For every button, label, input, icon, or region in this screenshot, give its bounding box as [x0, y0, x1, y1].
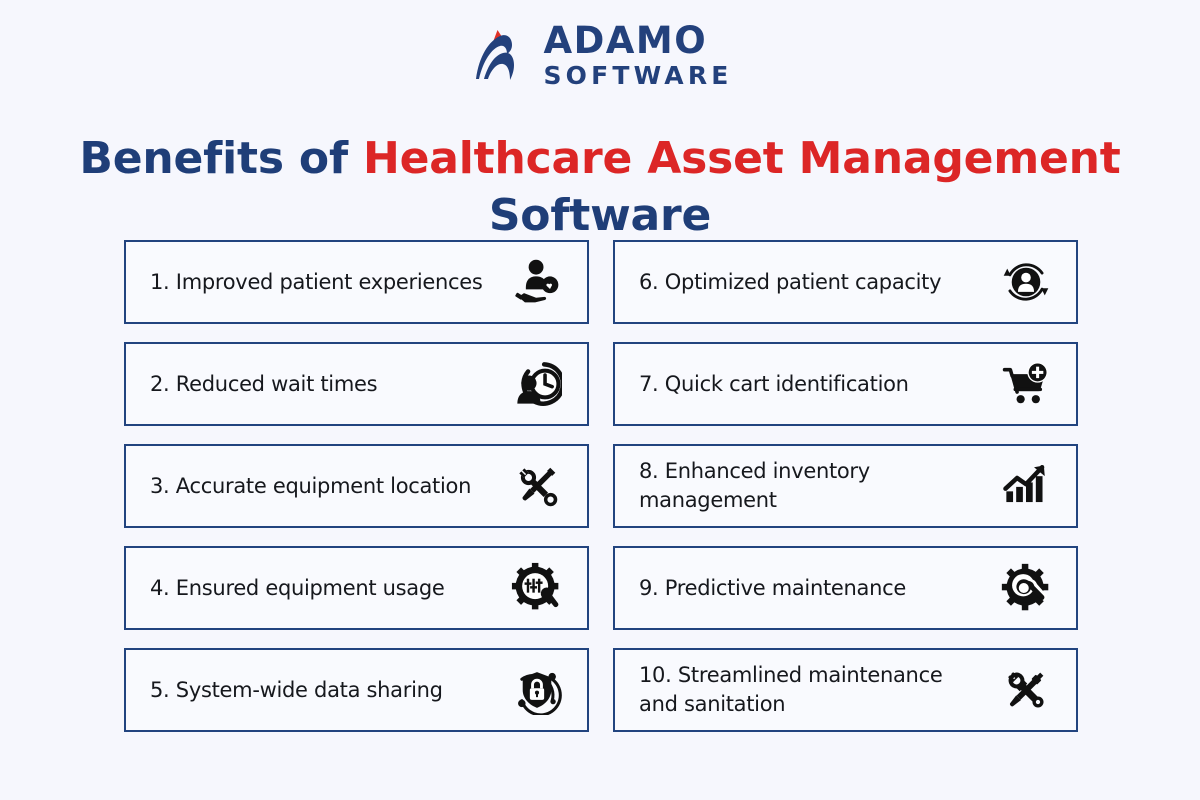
benefit-card-6[interactable]: 6. Optimized patient capacity [613, 240, 1078, 324]
brand-logo: ADAMO SOFTWARE [0, 22, 1200, 88]
growth-chart-arrow-icon [998, 458, 1054, 514]
benefit-card-5-label: 5. System-wide data sharing [150, 676, 509, 705]
wrench-screwdriver-tools-icon [998, 662, 1054, 718]
adamo-swoosh-logo-icon [467, 24, 529, 86]
benefit-card-2-label: 2. Reduced wait times [150, 370, 509, 399]
benefit-card-7-label: 7. Quick cart identification [639, 370, 998, 399]
benefit-card-4[interactable]: 4. Ensured equipment usage [124, 546, 589, 630]
page-title-part3: Software [489, 190, 711, 241]
benefit-card-9[interactable]: 9. Predictive maintenance [613, 546, 1078, 630]
benefit-card-2[interactable]: 2. Reduced wait times [124, 342, 589, 426]
benefit-card-8-label: 8. Enhanced inventory management [639, 457, 998, 515]
person-clock-icon [509, 356, 565, 412]
benefit-card-8[interactable]: 8. Enhanced inventory management [613, 444, 1078, 528]
benefit-card-5[interactable]: 5. System-wide data sharing [124, 648, 589, 732]
benefit-card-1[interactable]: 1. Improved patient experiences [124, 240, 589, 324]
shield-lock-network-icon [509, 662, 565, 718]
gear-wrench-icon [998, 560, 1054, 616]
page-title-part2: Healthcare Asset Management [363, 133, 1121, 184]
benefit-card-3-label: 3. Accurate equipment location [150, 472, 509, 501]
brand-name-line2: SOFTWARE [543, 63, 732, 88]
benefit-card-6-label: 6. Optimized patient capacity [639, 268, 998, 297]
brand-wordmark: ADAMO SOFTWARE [543, 22, 732, 88]
benefit-card-1-label: 1. Improved patient experiences [150, 268, 509, 297]
benefit-card-10[interactable]: 10. Streamlined maintenance and sanitati… [613, 648, 1078, 732]
wrench-screwdriver-cross-icon [509, 458, 565, 514]
page-title-part1: Benefits of [79, 133, 363, 184]
benefits-grid: 1. Improved patient experiences 2. Reduc… [124, 240, 1078, 732]
infographic-page: ADAMO SOFTWARE Benefits of Healthcare As… [0, 0, 1200, 800]
benefit-card-10-label: 10. Streamlined maintenance and sanitati… [639, 661, 998, 719]
benefits-column-left: 1. Improved patient experiences 2. Reduc… [124, 240, 589, 732]
patient-heart-in-hand-icon [509, 254, 565, 310]
user-rotate-circle-icon [998, 254, 1054, 310]
benefit-card-7[interactable]: 7. Quick cart identification [613, 342, 1078, 426]
page-title: Benefits of Healthcare Asset Management … [60, 130, 1140, 244]
benefit-card-9-label: 9. Predictive maintenance [639, 574, 998, 603]
benefit-card-4-label: 4. Ensured equipment usage [150, 574, 509, 603]
cart-plus-icon [998, 356, 1054, 412]
benefits-column-right: 6. Optimized patient capacity 7. Quick c… [613, 240, 1078, 732]
brand-name-line1: ADAMO [543, 22, 707, 59]
benefit-card-3[interactable]: 3. Accurate equipment location [124, 444, 589, 528]
gear-settings-wrench-icon [509, 560, 565, 616]
